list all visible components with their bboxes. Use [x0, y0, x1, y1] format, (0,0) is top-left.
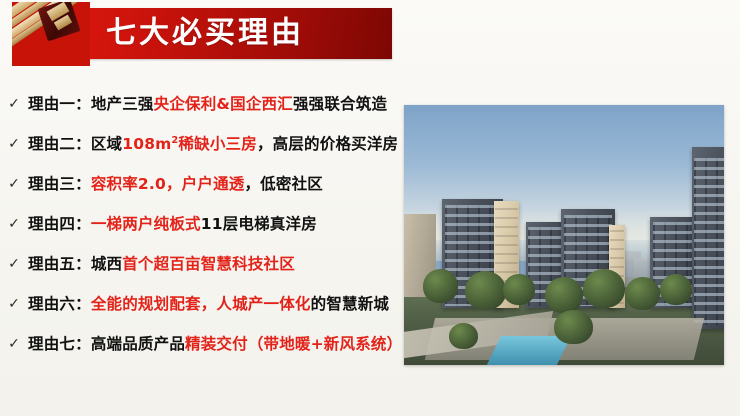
check-icon: ✓: [0, 97, 28, 111]
slide-canvas: 七大必买理由 ✓理由一：地产三强央企保利&国企西汇强强联合筑造✓理由二：区域10…: [0, 0, 740, 416]
reason-plain-segment: 城西: [91, 255, 122, 273]
reason-text: 理由三：容积率2.0，户户通透，低密社区: [28, 176, 323, 193]
reason-plain-segment: 区域: [91, 135, 122, 153]
reason-label: 理由三：: [28, 175, 91, 193]
reason-label: 理由五：: [28, 255, 91, 273]
tree: [660, 274, 692, 305]
tree: [503, 274, 535, 305]
reason-row: ✓理由七：高端品质产品精装交付（带地暖+新风系统）: [0, 336, 410, 376]
check-icon: ✓: [0, 337, 28, 351]
reason-plain-segment: ，低密社区: [244, 175, 323, 193]
reason-row: ✓理由六：全能的规划配套，人城产一体化的智慧新城: [0, 296, 410, 336]
reason-plain-segment: ，高层的价格买洋房: [257, 135, 398, 153]
reason-highlight-segment: 108m2稀缺小三房: [122, 135, 257, 153]
reason-text: 理由五：城西首个超百亩智慧科技社区: [28, 256, 295, 273]
tree: [583, 269, 625, 308]
check-icon: ✓: [0, 177, 28, 191]
reason-list: ✓理由一：地产三强央企保利&国企西汇强强联合筑造✓理由二：区域108m2稀缺小三…: [0, 96, 410, 376]
reason-plain-segment: 地产三强: [91, 95, 154, 113]
reason-row: ✓理由三：容积率2.0，户户通透，低密社区: [0, 176, 410, 216]
reason-highlight-segment: 全能的规划配套，人城产一体化: [91, 295, 311, 313]
reason-highlight-segment: 精装交付（带地暖+新风系统）: [185, 335, 402, 353]
reason-row: ✓理由五：城西首个超百亩智慧科技社区: [0, 256, 410, 296]
reason-text: 理由一：地产三强央企保利&国企西汇强强联合筑造: [28, 96, 387, 113]
check-icon: ✓: [0, 137, 28, 151]
tree: [625, 277, 660, 311]
foreground-tower: [692, 147, 724, 329]
reason-highlight-segment: 一梯两户纯板式: [91, 215, 201, 233]
reason-label: 理由二：: [28, 135, 91, 153]
reason-label: 理由六：: [28, 295, 91, 313]
reason-text: 理由六：全能的规划配套，人城产一体化的智慧新城: [28, 296, 389, 313]
reason-highlight-segment: 首个超百亩智慧科技社区: [122, 255, 295, 273]
tree: [545, 277, 583, 313]
check-icon: ✓: [0, 217, 28, 231]
reason-plain-segment: 11层电梯真洋房: [201, 215, 317, 233]
reason-highlight-segment: 容积率2.0，户户通透: [91, 175, 245, 193]
reason-text: 理由四：一梯两户纯板式11层电梯真洋房: [28, 216, 317, 233]
reason-row: ✓理由四：一梯两户纯板式11层电梯真洋房: [0, 216, 410, 256]
residential-complex-rendering: [404, 105, 724, 365]
ribbon-scroll-ornament: [12, 2, 90, 66]
tree: [449, 323, 478, 349]
reason-text: 理由七：高端品质产品精装交付（带地暖+新风系统）: [28, 336, 402, 353]
page-title: 七大必买理由: [106, 18, 304, 48]
tree: [465, 271, 507, 310]
reason-label: 理由七：: [28, 335, 91, 353]
reason-plain-segment: 强强联合筑造: [293, 95, 387, 113]
reason-plain-segment: 高端品质产品: [91, 335, 185, 353]
reason-highlight-segment: 央企保利&国企西汇: [154, 95, 293, 113]
reason-label: 理由四：: [28, 215, 91, 233]
reason-plain-segment: 的智慧新城: [311, 295, 390, 313]
reason-row: ✓理由二：区域108m2稀缺小三房，高层的价格买洋房: [0, 136, 410, 176]
check-icon: ✓: [0, 257, 28, 271]
reason-row: ✓理由一：地产三强央企保利&国企西汇强强联合筑造: [0, 96, 410, 136]
water-feature: [487, 336, 571, 365]
tree: [554, 310, 592, 344]
reason-label: 理由一：: [28, 95, 91, 113]
tree: [423, 269, 458, 303]
reason-text: 理由二：区域108m2稀缺小三房，高层的价格买洋房: [28, 136, 398, 153]
check-icon: ✓: [0, 297, 28, 311]
